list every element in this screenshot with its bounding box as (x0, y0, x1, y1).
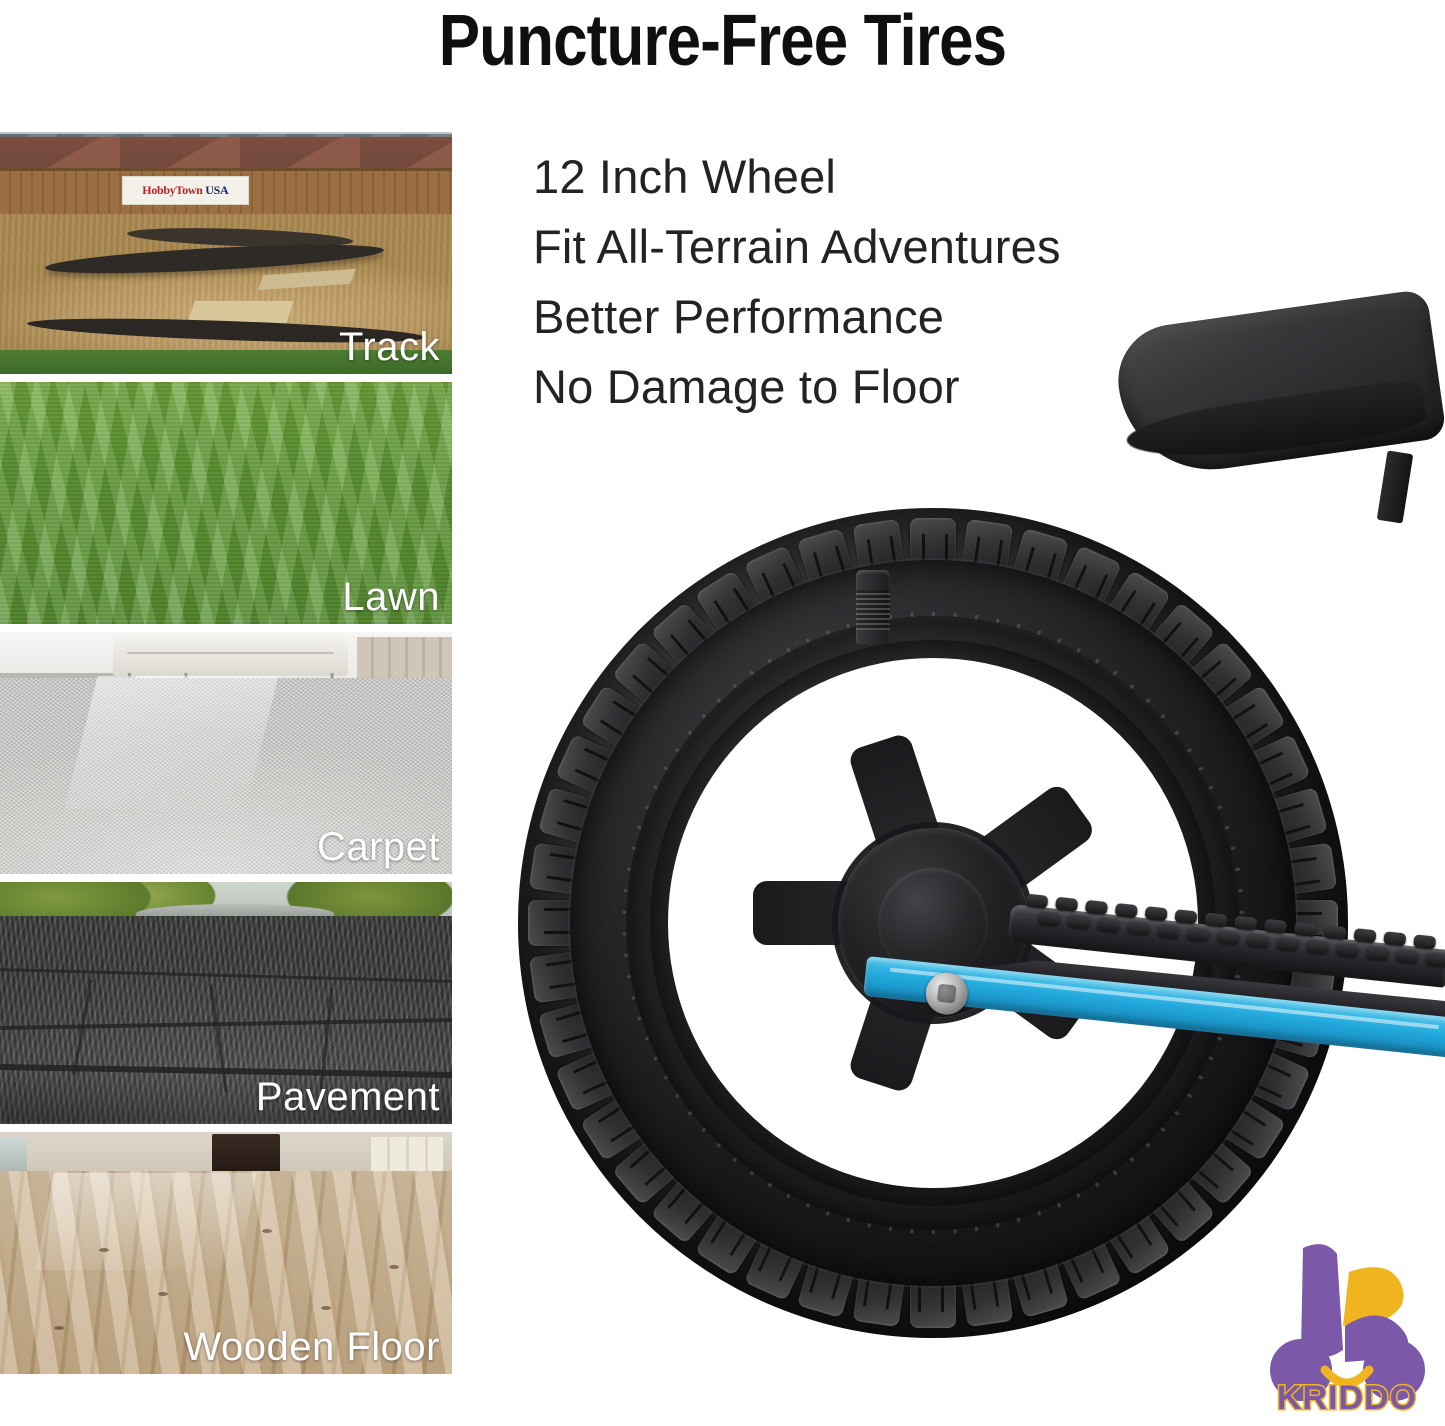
bike-saddle (1120, 302, 1445, 492)
footrest-nub (1115, 903, 1138, 918)
footrest-nub (1025, 894, 1048, 909)
footrest-nub (1174, 909, 1197, 924)
footrest-nub (1383, 931, 1406, 946)
terrain-panel-lawn: Lawn (0, 382, 452, 624)
footrest-nub (1264, 919, 1287, 934)
terrain-thumbnail-column: HobbyTown USA Track Lawn Carp (0, 132, 452, 1382)
footrest-nub (1306, 939, 1329, 954)
footrest-nub (1037, 911, 1060, 926)
footrest-nub (1413, 934, 1436, 949)
banner-text-secondary: USA (205, 183, 228, 198)
footrest-nub (1353, 928, 1376, 943)
footrest-nub (1097, 917, 1120, 932)
footrest-nub (1204, 912, 1227, 927)
brand-wordmark: KRIDDO (1257, 1379, 1437, 1418)
footrest-nub (1294, 922, 1317, 937)
footrest-nub (1324, 925, 1347, 940)
footrest-nub (1234, 916, 1257, 931)
seat-post (1377, 450, 1414, 523)
kriddo-logo: KRIDDO (1257, 1230, 1437, 1420)
footrest-nub (1246, 933, 1269, 948)
footrest-nub (1187, 927, 1210, 942)
terrain-panel-wooden-floor: Wooden Floor (0, 1132, 452, 1374)
terrain-label-lawn: Lawn (342, 574, 440, 620)
footrest-nub (1425, 952, 1445, 967)
footrest-nub (1127, 920, 1150, 935)
footrest-nub (1085, 900, 1108, 915)
terrain-panel-pavement: Pavement (0, 882, 452, 1124)
terrain-label-pavement: Pavement (256, 1074, 440, 1120)
footrest-nub (1395, 949, 1418, 964)
footrest-nub (1145, 906, 1168, 921)
footrest-nub (1157, 924, 1180, 939)
terrain-label-track: Track (339, 324, 440, 370)
feature-line-1: 12 Inch Wheel (533, 142, 1233, 212)
page-title: Puncture-Free Tires (101, 0, 1344, 84)
terrain-panel-track: HobbyTown USA Track (0, 132, 452, 374)
footrest-nub (1216, 930, 1239, 945)
banner-text-primary: HobbyTown (142, 183, 202, 198)
footrest-nub (1276, 936, 1299, 951)
terrain-label-wooden-floor: Wooden Floor (183, 1324, 440, 1370)
footrest-nub (1336, 942, 1359, 957)
terrain-label-carpet: Carpet (317, 824, 440, 870)
terrain-panel-carpet: Carpet (0, 632, 452, 874)
footrest-nub (1067, 914, 1090, 929)
hobbytown-banner: HobbyTown USA (122, 176, 249, 205)
valve-stem-icon (856, 570, 890, 644)
footrest-nub (1055, 897, 1078, 912)
footrest-nub (1366, 945, 1389, 960)
